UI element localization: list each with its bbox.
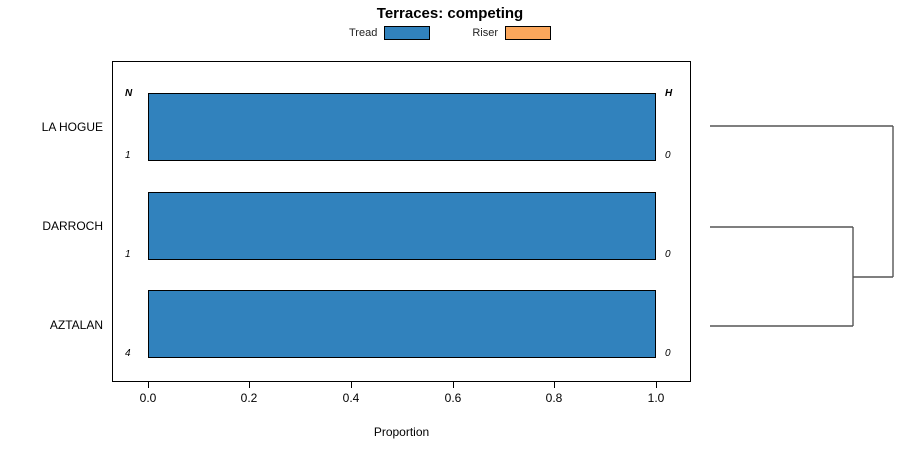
row-label-la-hogue: LA HOGUE — [42, 120, 103, 134]
x-tick-4 — [554, 382, 555, 388]
dendrogram-svg — [700, 61, 900, 382]
annotation-h-la-hogue: 0 — [665, 150, 671, 161]
bar-row-la-hogue — [148, 93, 656, 161]
x-tick-label-2: 0.4 — [321, 391, 381, 405]
row-label-darroch: DARROCH — [42, 219, 103, 233]
x-tick-5 — [656, 382, 657, 388]
chart-title: Terraces: competing — [0, 5, 900, 22]
row-label-aztalan: AZTALAN — [50, 318, 103, 332]
x-tick-label-3: 0.6 — [423, 391, 483, 405]
annotation-h-darroch: 0 — [665, 249, 671, 260]
dendrogram — [700, 61, 900, 382]
x-tick-1 — [249, 382, 250, 388]
annotation-n-la-hogue: 1 — [125, 150, 131, 161]
legend-swatch-riser — [505, 26, 551, 40]
x-tick-2 — [351, 382, 352, 388]
x-tick-label-5: 1.0 — [626, 391, 686, 405]
bar-segment-tread[interactable] — [148, 290, 656, 358]
legend-label-riser: Riser — [472, 27, 498, 39]
chart-root: Terraces: competing Tread Riser LA HOGUE… — [0, 0, 900, 460]
annotation-n-aztalan: 4 — [125, 348, 131, 359]
x-axis-title: Proportion — [0, 425, 803, 439]
chart-legend: Tread Riser — [0, 26, 900, 40]
annotation-h-aztalan: 0 — [665, 348, 671, 359]
legend-item-riser[interactable]: Riser — [472, 26, 551, 40]
bar-row-darroch — [148, 192, 656, 260]
annotation-header-n: N — [125, 88, 132, 99]
bar-segment-tread[interactable] — [148, 192, 656, 260]
annotation-header-h: H — [665, 88, 672, 99]
x-tick-label-1: 0.2 — [219, 391, 279, 405]
legend-item-tread[interactable]: Tread — [349, 26, 430, 40]
x-tick-label-0: 0.0 — [118, 391, 178, 405]
x-tick-label-4: 0.8 — [524, 391, 584, 405]
bar-row-aztalan — [148, 290, 656, 358]
legend-swatch-tread — [384, 26, 430, 40]
x-tick-3 — [453, 382, 454, 388]
x-tick-0 — [148, 382, 149, 388]
bar-segment-tread[interactable] — [148, 93, 656, 161]
plot-panel: N H 1 0 1 0 4 0 — [112, 61, 691, 382]
legend-label-tread: Tread — [349, 27, 377, 39]
annotation-n-darroch: 1 — [125, 249, 131, 260]
